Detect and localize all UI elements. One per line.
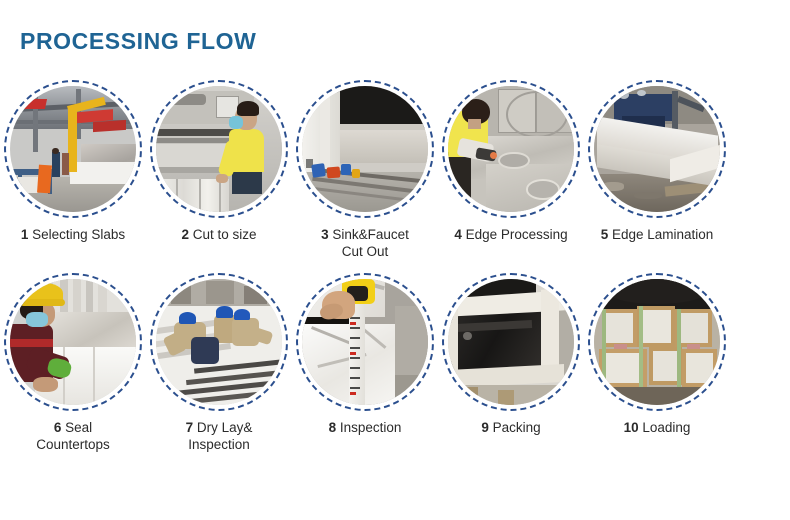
flow-step-2[interactable]: 2 Cut to size — [146, 80, 292, 244]
step-7-label: 7 Dry Lay& Inspection — [144, 420, 294, 454]
step-8-text: Inspection — [340, 420, 402, 435]
step-4-photo — [448, 86, 574, 212]
step-4-label: 4 Edge Processing — [436, 227, 586, 244]
page-title: PROCESSING FLOW — [20, 28, 256, 55]
step-6-circle-frame — [4, 273, 142, 411]
flow-step-10[interactable]: 10 Loading — [584, 273, 730, 437]
step-6-number: 6 — [54, 420, 62, 435]
step-6-text-line2: Countertops — [36, 437, 110, 452]
flow-step-9[interactable]: 9 Packing — [438, 273, 584, 437]
step-4-number: 4 — [454, 227, 462, 242]
step-2-text: Cut to size — [193, 227, 257, 242]
step-3-circle-frame — [296, 80, 434, 218]
flow-row-1: 1 Selecting Slabs — [0, 80, 790, 261]
step-5-number: 5 — [601, 227, 609, 242]
step-2-circle-frame — [150, 80, 288, 218]
step-7-text-line2: Inspection — [188, 437, 250, 452]
step-7-photo — [156, 279, 282, 405]
step-6-photo — [10, 279, 136, 405]
step-5-photo — [594, 86, 720, 212]
step-1-circle-frame — [4, 80, 142, 218]
step-8-photo — [302, 279, 428, 405]
step-9-label: 9 Packing — [436, 420, 586, 437]
step-7-circle-frame — [150, 273, 288, 411]
step-9-photo — [448, 279, 574, 405]
step-2-photo — [156, 86, 282, 212]
step-3-photo — [302, 86, 428, 212]
step-3-label: 3 3 Sink&Faucet Sink&Faucet Cut Out — [290, 227, 440, 261]
step-3-text: Sink&Faucet — [332, 227, 409, 242]
flow-row-2: 6 Seal Countertops — [0, 273, 790, 454]
step-9-number: 9 — [481, 420, 489, 435]
step-8-circle-frame — [296, 273, 434, 411]
step-1-text: Selecting Slabs — [32, 227, 125, 242]
step-5-circle-frame — [588, 80, 726, 218]
step-10-text: Loading — [642, 420, 690, 435]
step-10-label: 10 Loading — [582, 420, 732, 437]
step-4-circle-frame — [442, 80, 580, 218]
step-6-text: Seal — [65, 420, 92, 435]
step-8-label: 8 Inspection — [290, 420, 440, 437]
step-3-number: 3 — [321, 227, 329, 242]
step-5-label: 5 Edge Lamination — [582, 227, 732, 244]
step-7-number: 7 — [186, 420, 194, 435]
flow-step-3[interactable]: 3 3 Sink&Faucet Sink&Faucet Cut Out — [292, 80, 438, 261]
flow-step-1[interactable]: 1 Selecting Slabs — [0, 80, 146, 244]
flow-step-6[interactable]: 6 Seal Countertops — [0, 273, 146, 454]
flow-step-8[interactable]: 8 Inspection — [292, 273, 438, 437]
step-10-circle-frame — [588, 273, 726, 411]
step-8-number: 8 — [329, 420, 337, 435]
step-9-text: Packing — [493, 420, 541, 435]
step-1-photo — [10, 86, 136, 212]
step-2-label: 2 Cut to size — [144, 227, 294, 244]
flow-step-4[interactable]: 4 Edge Processing — [438, 80, 584, 244]
flow-step-5[interactable]: 5 Edge Lamination — [584, 80, 730, 244]
step-4-text: Edge Processing — [466, 227, 568, 242]
step-10-number: 10 — [624, 420, 639, 435]
processing-flow-grid: 1 Selecting Slabs — [0, 80, 790, 454]
step-2-number: 2 — [181, 227, 189, 242]
step-3-text-line2: Cut Out — [342, 244, 389, 259]
step-1-number: 1 — [21, 227, 29, 242]
step-5-text: Edge Lamination — [612, 227, 713, 242]
step-7-text: Dry Lay& — [197, 420, 253, 435]
flow-step-7[interactable]: 7 Dry Lay& Inspection — [146, 273, 292, 454]
step-10-photo — [594, 279, 720, 405]
step-9-circle-frame — [442, 273, 580, 411]
step-6-label: 6 Seal Countertops — [0, 420, 148, 454]
step-1-label: 1 Selecting Slabs — [0, 227, 148, 244]
